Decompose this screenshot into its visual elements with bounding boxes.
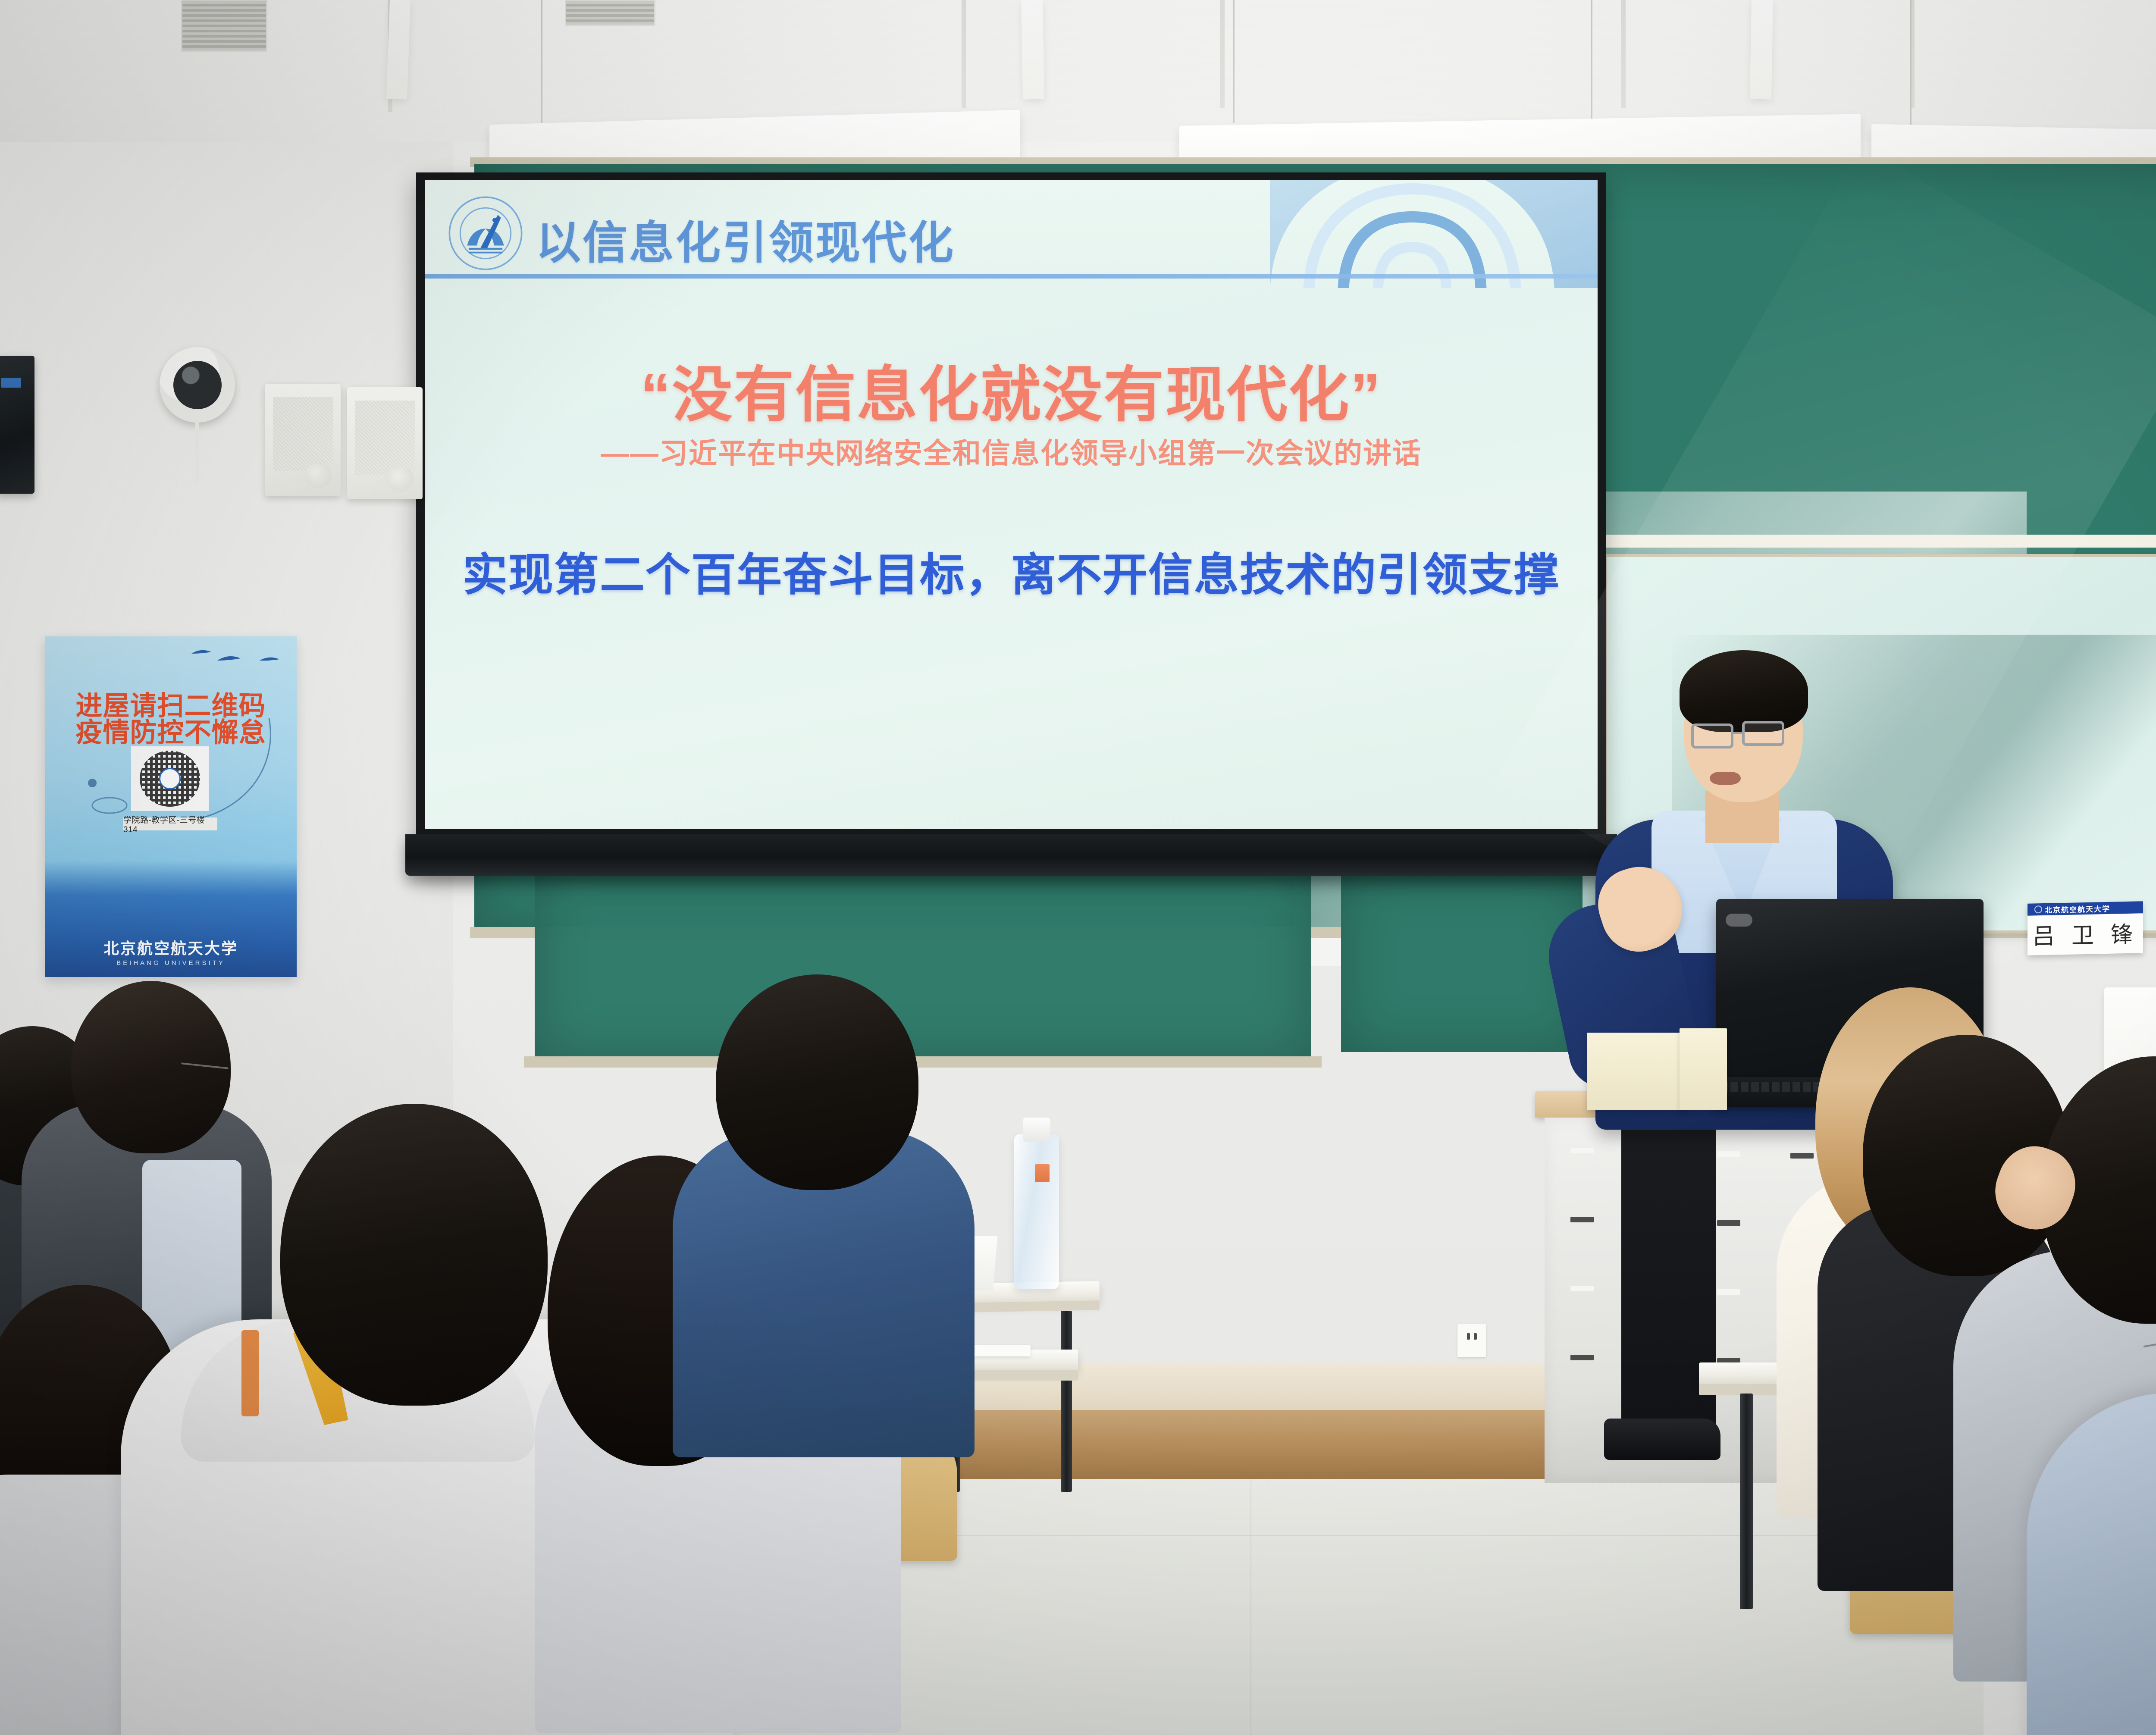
slide-body: “没有信息化就没有现代化” ——习近平在中央网络安全和信息化领导小组第一次会议的… <box>425 288 1598 829</box>
paper-stack <box>1587 1033 1686 1110</box>
blackboard-lower-mid <box>1341 871 1583 1052</box>
poster-qr-code <box>131 746 209 811</box>
desk-leg <box>1061 1311 1072 1492</box>
left-wall <box>0 0 453 1164</box>
classroom-photo: 以信息化引领现代化 “没有信息化就没有现代化” ——习近平在中央网络安全和信息化… <box>0 0 2156 1735</box>
poster-brand: 北京航空航天大学 BEIHANG UNIVERSITY <box>45 936 297 967</box>
covid-qr-poster: 进屋请扫二维码 疫情防控不懈怠 学院路-教学区-三号楼314 北京航空航天大学 … <box>45 636 297 977</box>
ceiling-air-vent <box>181 0 267 52</box>
presenter-mouth <box>1710 772 1741 785</box>
linear-ceiling-light <box>1021 0 1044 99</box>
baffle-wire <box>541 0 542 123</box>
baffle-wire <box>1910 0 1912 129</box>
blackboard-lower-left <box>535 862 1311 1061</box>
wall-outlet <box>1457 1324 1486 1357</box>
nameplate-university: 北京航空航天大学 <box>2045 902 2110 914</box>
header-arc-graphic <box>1210 180 1598 288</box>
ceiling-air-vent <box>565 0 655 26</box>
projected-slide: 以信息化引领现代化 “没有信息化就没有现代化” ——习近平在中央网络安全和信息化… <box>425 180 1598 829</box>
dome-security-camera <box>160 347 235 423</box>
linear-ceiling-light <box>1750 0 1773 99</box>
wall-speaker-left-dark <box>0 356 34 494</box>
presenter-shoe <box>1604 1419 1720 1460</box>
presenter-hair <box>1680 650 1808 732</box>
water-bottle-label <box>1035 1164 1050 1182</box>
slide-header-title: 以信息化引领现代化 <box>536 206 955 271</box>
student-front-left-hoodie <box>280 1104 548 1406</box>
hoodie-drawstring <box>241 1330 259 1416</box>
water-bottle-cap <box>1023 1118 1050 1142</box>
slide-line-3: 实现第二个百年奋斗目标，离不开信息技术的引领支撑 <box>425 538 1598 603</box>
presenter-leg <box>1621 1117 1716 1453</box>
slide-attribution: ——习近平在中央网络安全和信息化领导小组第一次会议的讲话 <box>425 430 1598 472</box>
projector-screen: 以信息化引领现代化 “没有信息化就没有现代化” ——习近平在中央网络安全和信息化… <box>416 172 1606 871</box>
eyeglasses-icon <box>1691 723 1733 748</box>
poster-line-2: 疫情防控不懈怠 <box>45 711 297 749</box>
baffle-wire <box>1233 0 1235 123</box>
student-back-row-left-vest <box>71 981 231 1153</box>
speaker-nameplate: 北京航空航天大学 吕 卫 锋 <box>2028 901 2143 955</box>
eyeglasses-bridge <box>1733 732 1744 734</box>
blackboard-frame <box>524 1056 1322 1068</box>
water-bottle <box>1014 1134 1059 1289</box>
eyeglasses-icon <box>1742 721 1784 746</box>
paper-stack <box>1680 1028 1727 1110</box>
slide-header: 以信息化引领现代化 <box>425 180 1598 288</box>
slide-main-title: “没有信息化就没有现代化” <box>425 346 1598 433</box>
ceiling-seam <box>1621 0 1626 108</box>
beihang-university-seal-icon <box>447 195 524 272</box>
slide-header-rule <box>425 274 1598 279</box>
linear-ceiling-light <box>386 0 411 100</box>
poster-address: 学院路-教学区-三号楼314 <box>123 817 217 830</box>
ceiling-seam <box>1220 0 1225 108</box>
projector-screen-weight-bar <box>405 834 1617 876</box>
ceiling-seam <box>962 0 966 108</box>
camera-cable <box>195 414 199 483</box>
baffle-wire <box>1591 0 1592 129</box>
poster-brand-en: BEIHANG UNIVERSITY <box>45 959 297 967</box>
nameplate-speaker-name: 吕 卫 锋 <box>2028 916 2143 951</box>
monitor-brand-logo <box>1726 914 1752 927</box>
wall-speaker-left-a <box>265 384 341 496</box>
desk-leg <box>1740 1394 1753 1609</box>
student-blue-tee <box>716 974 918 1190</box>
nameplate-header: 北京航空航天大学 <box>2028 901 2143 916</box>
beihang-seal-icon <box>2034 905 2042 913</box>
wall-speaker-left-b <box>347 387 423 499</box>
whiteboard-rail <box>1595 535 2156 548</box>
poster-brand-cn: 北京航空航天大学 <box>45 936 297 958</box>
